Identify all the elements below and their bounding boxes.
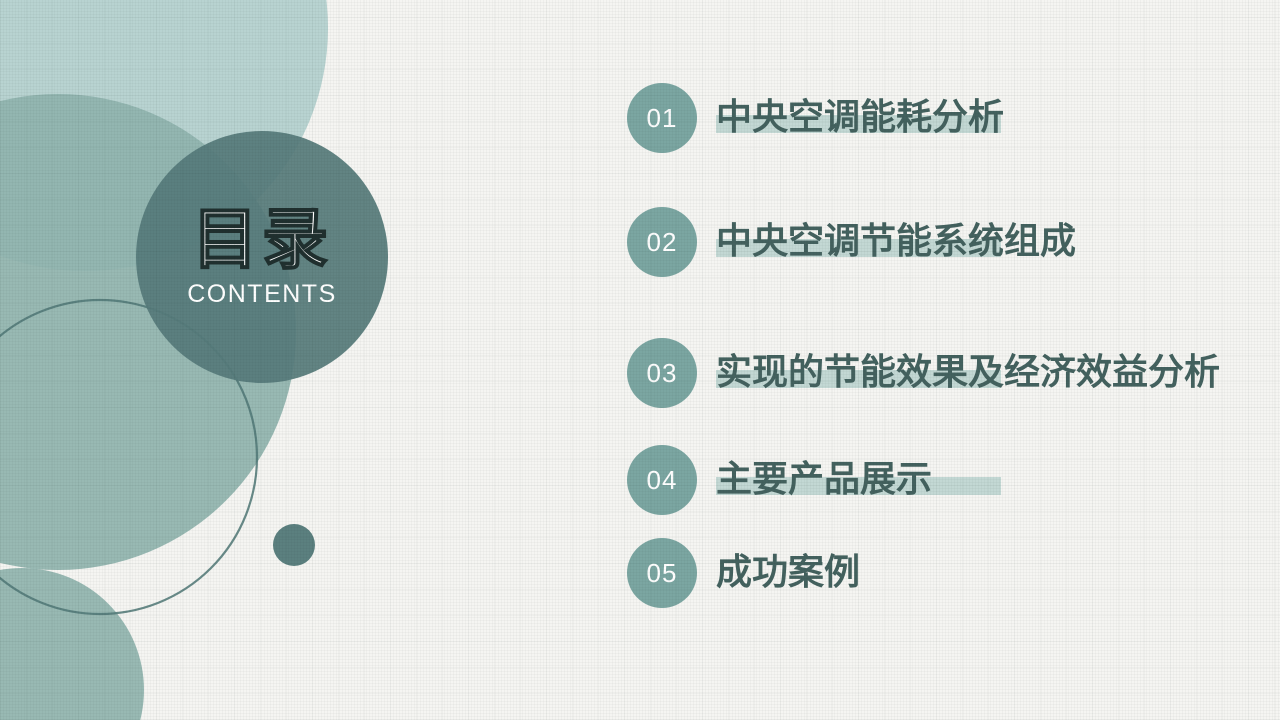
contents-item-03[interactable]: 03 实现的节能效果及经济效益分析 [627,338,1220,408]
item-number-03: 03 [647,360,678,387]
item-label-04[interactable]: 主要产品展示 [716,461,932,499]
item-label-text-01: 中央空调能耗分析 [716,96,1004,137]
item-number-05: 05 [647,560,678,587]
item-label-05[interactable]: 成功案例 [716,554,860,592]
item-number-badge-01[interactable]: 01 [627,83,697,153]
contents-item-05[interactable]: 05 成功案例 [627,538,860,608]
item-label-text-04: 主要产品展示 [716,458,932,499]
contents-item-02[interactable]: 02 中央空调节能系统组成 [627,207,1076,277]
item-label-03[interactable]: 实现的节能效果及经济效益分析 [716,354,1220,392]
contents-item-04[interactable]: 04 主要产品展示 [627,445,932,515]
item-number-02: 02 [647,229,678,256]
item-number-04: 04 [647,467,678,494]
item-number-badge-04[interactable]: 04 [627,445,697,515]
item-number-badge-03[interactable]: 03 [627,338,697,408]
item-label-01[interactable]: 中央空调能耗分析 [716,99,1004,137]
item-label-text-05: 成功案例 [716,551,860,592]
contents-list: 01 中央空调能耗分析 02 中央空调节能系统组成 03 实现的节能效果及经济效… [0,0,1280,720]
item-label-text-02: 中央空调节能系统组成 [716,220,1076,261]
item-number-01: 01 [647,105,678,132]
item-number-badge-02[interactable]: 02 [627,207,697,277]
item-label-text-03: 实现的节能效果及经济效益分析 [716,351,1220,392]
item-number-badge-05[interactable]: 05 [627,538,697,608]
slide-canvas: 目录 CONTENTS 01 中央空调能耗分析 02 中央空调节能系统组成 [0,0,1280,720]
contents-item-01[interactable]: 01 中央空调能耗分析 [627,83,1004,153]
item-label-02[interactable]: 中央空调节能系统组成 [716,223,1076,261]
